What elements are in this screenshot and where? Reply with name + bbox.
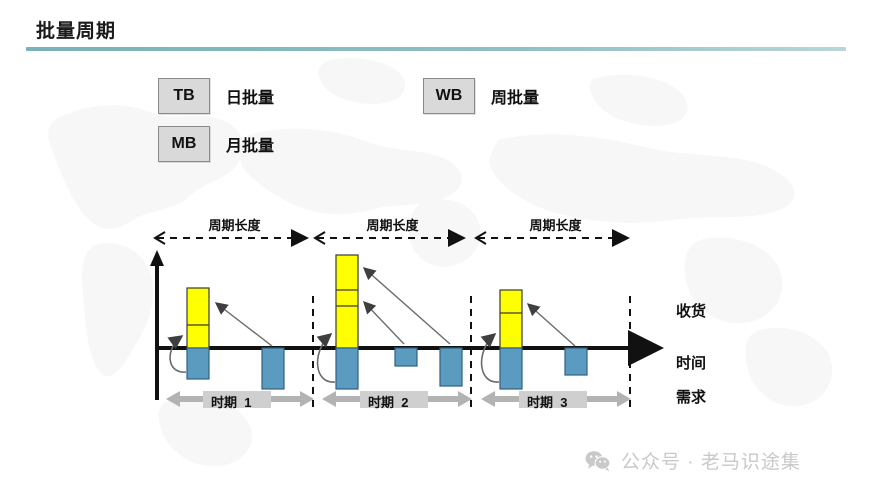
watermark-text: 公众号 · 老马识途集 xyxy=(621,447,801,474)
aggregation-arrow-p1 xyxy=(216,303,272,346)
axis-label-demand: 需求 xyxy=(676,386,706,407)
receipt-bar-period-1[interactable] xyxy=(187,288,209,348)
period-label-2: 时期 2 xyxy=(368,392,408,411)
demand-bar-p3-b[interactable] xyxy=(565,348,587,375)
demand-bar-p1-b[interactable] xyxy=(262,348,284,389)
demand-bar-p2-a[interactable] xyxy=(336,348,358,389)
y-axis-arrowhead xyxy=(150,250,164,266)
demand-bar-p3-a[interactable] xyxy=(500,348,522,389)
aggregation-arrow-p2-a xyxy=(364,302,404,344)
receipt-bar-period-2[interactable] xyxy=(336,255,358,348)
demand-to-receipt-curve-1 xyxy=(170,336,186,372)
watermark: 公众号 · 老马识途集 xyxy=(585,447,801,474)
period-label-3: 时期 3 xyxy=(527,392,567,411)
aggregation-arrow-p3 xyxy=(528,304,575,346)
cycle-label-2: 周期长度 xyxy=(345,215,440,234)
period-label-3-text: 时期 xyxy=(527,395,553,410)
period-number-2: 2 xyxy=(401,395,408,410)
cycle-label-3: 周期长度 xyxy=(508,215,603,234)
period-label-1-text: 时期 xyxy=(211,395,237,410)
wechat-icon xyxy=(585,450,611,472)
aggregation-arrow-p2-b xyxy=(364,268,450,344)
cycle-label-1: 周期长度 xyxy=(187,215,282,234)
period-label-1: 时期 1 xyxy=(211,392,251,411)
batch-cycle-chart xyxy=(0,0,872,491)
demand-bar-p2-b[interactable] xyxy=(395,348,417,366)
period-number-3: 3 xyxy=(560,395,567,410)
axis-label-receipt: 收货 xyxy=(676,300,706,321)
demand-to-receipt-curve-2 xyxy=(318,334,335,382)
demand-bar-p1-a[interactable] xyxy=(187,348,209,379)
demand-to-receipt-curve-3 xyxy=(482,334,499,382)
period-number-1: 1 xyxy=(244,395,251,410)
axis-label-time: 时间 xyxy=(676,352,706,373)
slide-canvas: 批量周期 TB 日批量 MB 月批量 WB 周批量 xyxy=(0,0,872,491)
receipt-bar-period-3[interactable] xyxy=(500,290,522,348)
period-label-2-text: 时期 xyxy=(368,395,394,410)
demand-bar-p2-c[interactable] xyxy=(440,348,462,386)
